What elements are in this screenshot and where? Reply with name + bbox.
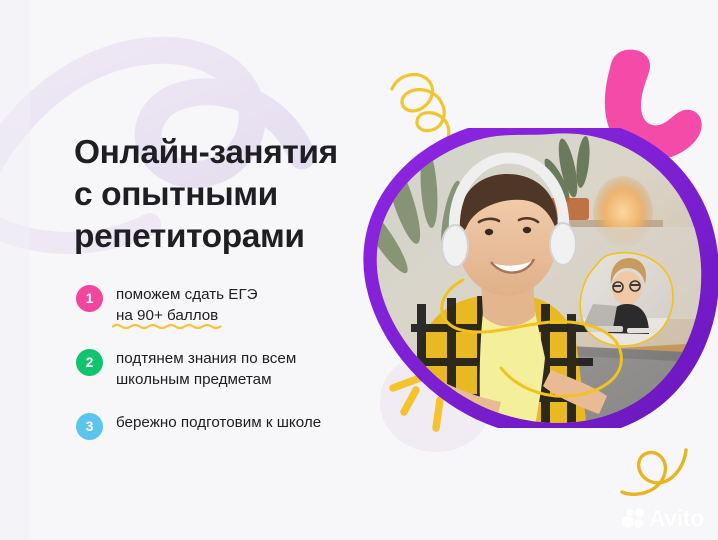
left-tint-strip — [0, 0, 30, 540]
page-title: Онлайн-занятия с опытными репетиторами — [74, 132, 404, 258]
list-item: 2 подтянем знания по всем школьным предм… — [76, 348, 406, 390]
benefit-text-1: поможем сдать ЕГЭ на 90+ баллов — [116, 284, 258, 326]
headline-block: Онлайн-занятия с опытными репетиторами — [74, 132, 404, 258]
hero-photo — [355, 128, 718, 428]
avito-wordmark: Avito — [649, 507, 704, 530]
yellow-loop-squiggle-icon — [622, 450, 686, 494]
list-item: 1 поможем сдать ЕГЭ на 90+ баллов — [76, 284, 406, 326]
benefit-text-3: бережно подготовим к школе — [116, 412, 321, 434]
benefit-text-2: подтянем знания по всем школьным предмет… — [116, 348, 296, 390]
benefit-badge-2: 2 — [76, 349, 103, 376]
hero-photo-svg — [355, 128, 718, 428]
benefit-badge-3: 3 — [76, 413, 103, 440]
avito-dots-logo-icon — [621, 508, 645, 529]
list-item: 3 бережно подготовим к школе — [76, 412, 406, 440]
benefits-list: 1 поможем сдать ЕГЭ на 90+ баллов 2 подт… — [76, 284, 406, 440]
benefit-badge-1: 1 — [76, 285, 103, 312]
avito-watermark: Avito — [621, 507, 704, 530]
wavy-underline-icon — [112, 322, 222, 329]
poster-canvas: Онлайн-занятия с опытными репетиторами 1… — [0, 0, 718, 540]
